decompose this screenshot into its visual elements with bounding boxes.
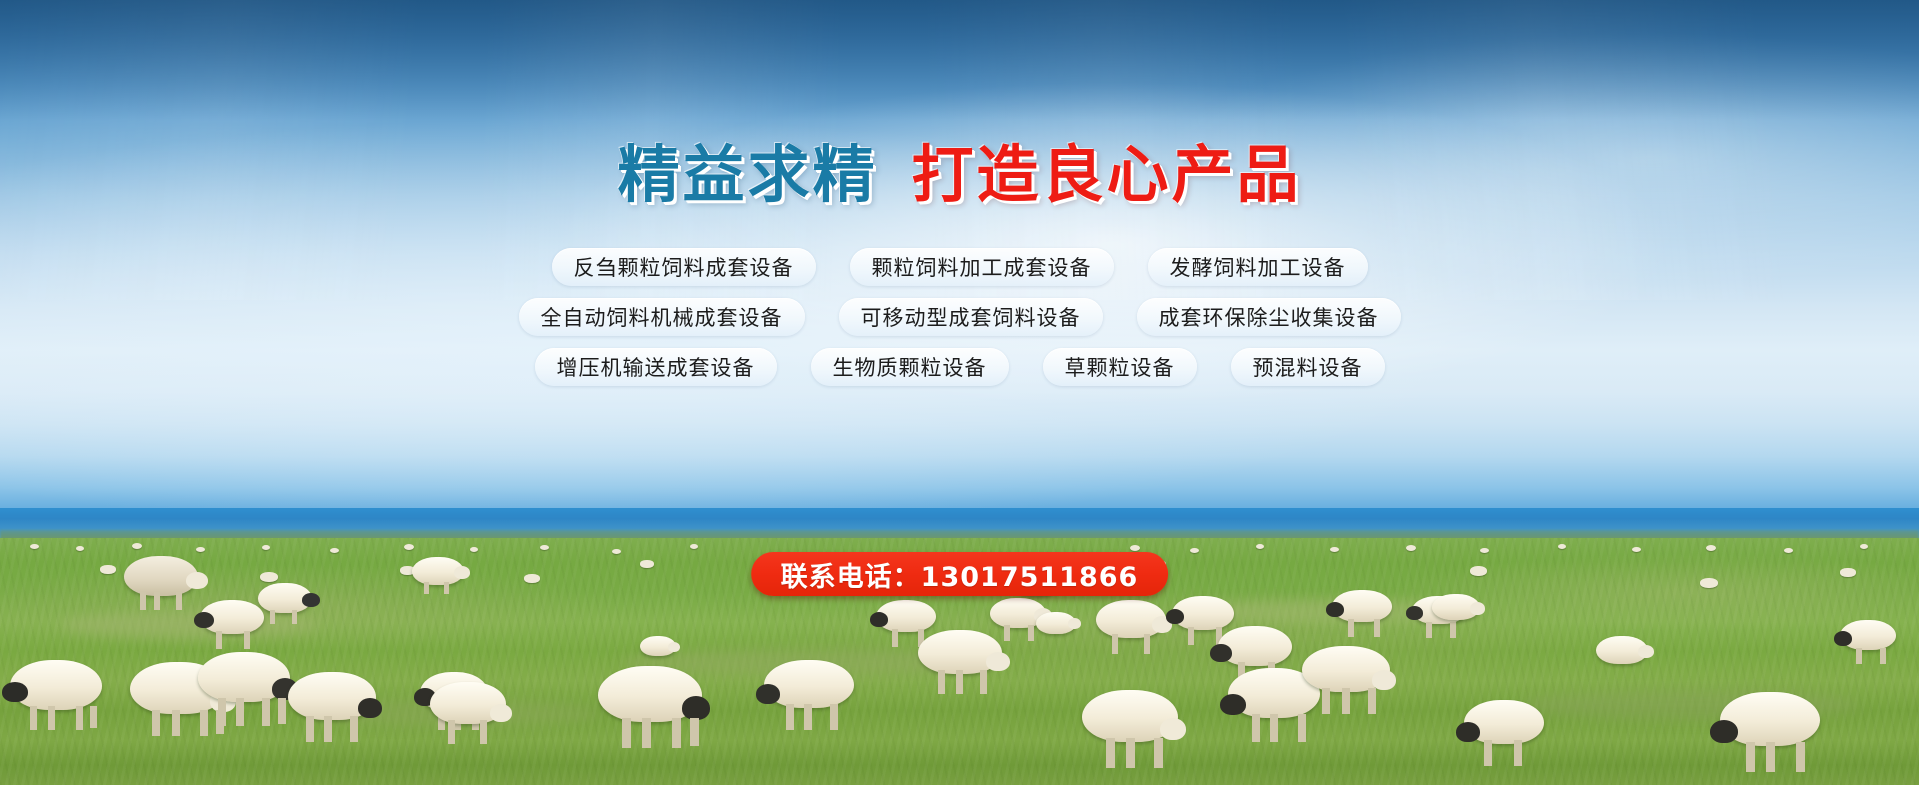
midfield-sheep (640, 560, 654, 568)
sheep (258, 583, 312, 613)
sheep (1464, 700, 1544, 744)
distant-sheep (1190, 548, 1199, 553)
distant-sheep (1330, 547, 1339, 552)
distant-sheep (1406, 545, 1416, 551)
midfield-sheep (1700, 578, 1718, 588)
distant-sheep (1480, 548, 1489, 553)
contact-phone-banner[interactable]: 联系电话：13017511866 (751, 552, 1169, 596)
distant-sheep (1784, 548, 1793, 553)
distant-sheep (1256, 544, 1264, 549)
distant-sheep (1860, 544, 1868, 549)
midfield-sheep (524, 574, 540, 583)
product-tag[interactable]: 预混料设备 (1231, 348, 1385, 386)
product-tag[interactable]: 颗粒饲料加工成套设备 (850, 248, 1114, 286)
sheep (200, 600, 264, 634)
headline: 精益求精打造良心产品 (0, 143, 1919, 207)
headline-red-text: 打造良心产品 (912, 138, 1302, 211)
contact-phone-text: 联系电话：13017511866 (781, 555, 1139, 594)
sheep (1036, 612, 1076, 634)
midfield-sheep (1470, 566, 1487, 576)
distant-sheep (330, 548, 339, 553)
sheep (598, 666, 702, 722)
product-tag[interactable]: 反刍颗粒饲料成套设备 (552, 248, 816, 286)
distant-sheep (1558, 544, 1566, 549)
sheep (1096, 600, 1166, 638)
product-tag[interactable]: 增压机输送成套设备 (535, 348, 777, 386)
hero-banner: 精益求精打造良心产品 反刍颗粒饲料成套设备 颗粒饲料加工成套设备 发酵饲料加工设… (0, 0, 1919, 785)
sheep (124, 556, 198, 596)
sheep (1218, 626, 1292, 666)
sheep (1172, 596, 1234, 630)
distant-sheep (30, 544, 39, 549)
ground-patch (60, 612, 320, 638)
sheep (764, 660, 854, 708)
sheep (1720, 692, 1820, 746)
sheep (1302, 646, 1390, 692)
distant-sheep (404, 544, 414, 550)
sheep (1840, 620, 1896, 650)
distant-sheep (470, 547, 478, 552)
product-tag[interactable]: 可移动型成套饲料设备 (839, 298, 1103, 336)
distant-sheep (1706, 545, 1716, 551)
sheep (1082, 690, 1178, 742)
sheep (288, 672, 376, 720)
sheep (430, 682, 506, 724)
product-tag-row-3: 增压机输送成套设备 生物质颗粒设备 草颗粒设备 预混料设备 (0, 348, 1919, 386)
sheep (1596, 636, 1648, 664)
product-tag-row-2: 全自动饲料机械成套设备 可移动型成套饲料设备 成套环保除尘收集设备 (0, 298, 1919, 336)
midfield-sheep (100, 565, 116, 574)
distant-sheep (132, 543, 142, 549)
distant-sheep (612, 549, 621, 554)
distant-sheep (196, 547, 205, 552)
sheep (412, 557, 464, 585)
product-tag[interactable]: 成套环保除尘收集设备 (1137, 298, 1401, 336)
product-tag[interactable]: 生物质颗粒设备 (811, 348, 1009, 386)
distant-sheep (262, 545, 270, 550)
midfield-sheep (1840, 568, 1856, 577)
sky-top-shade (0, 0, 1919, 120)
sheep (918, 630, 1002, 674)
sheep (10, 660, 102, 710)
distant-sheep (540, 545, 549, 550)
sheep (1432, 594, 1480, 620)
product-tag-row-1: 反刍颗粒饲料成套设备 颗粒饲料加工成套设备 发酵饲料加工设备 (0, 248, 1919, 286)
sheep (1332, 590, 1392, 622)
distant-sheep (690, 544, 698, 549)
sheep (876, 600, 936, 632)
distant-sheep (1632, 547, 1641, 552)
headline-blue-text: 精益求精 (617, 138, 877, 211)
sheep (198, 652, 290, 702)
product-tag-list: 反刍颗粒饲料成套设备 颗粒饲料加工成套设备 发酵饲料加工设备 全自动饲料机械成套… (0, 248, 1919, 398)
midfield-sheep (260, 572, 278, 582)
product-tag[interactable]: 全自动饲料机械成套设备 (519, 298, 805, 336)
product-tag[interactable]: 发酵饲料加工设备 (1148, 248, 1368, 286)
distant-sheep (76, 546, 84, 551)
product-tag[interactable]: 草颗粒设备 (1043, 348, 1197, 386)
sheep (640, 636, 676, 656)
distant-sheep (1130, 545, 1140, 551)
